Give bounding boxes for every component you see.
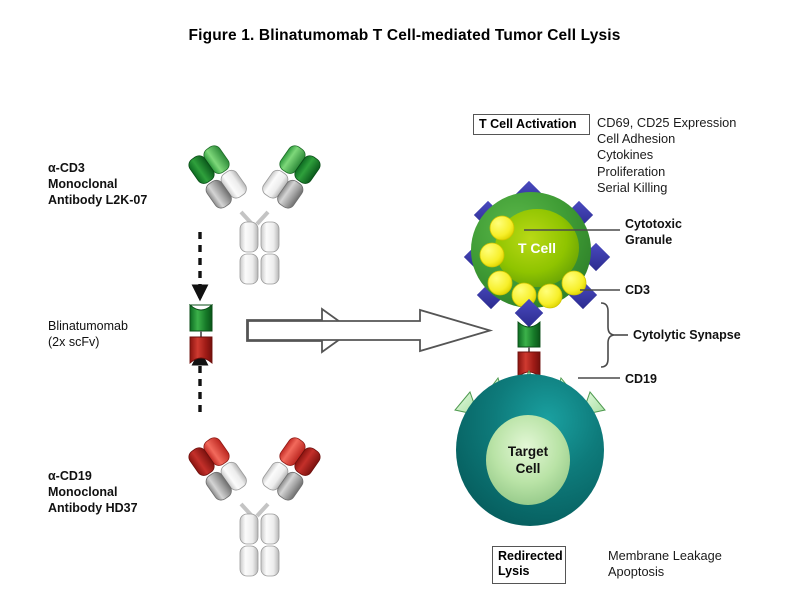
t-cell-figure: T Cell (464, 181, 610, 327)
target-cell-label-line-1: Target (508, 444, 549, 459)
anti-cd3-antibody-figure (186, 143, 323, 284)
anti-cd19-antibody-figure (186, 435, 323, 576)
cytolytic-synapse-brace (601, 303, 615, 367)
target-cell-nucleus (486, 415, 570, 505)
target-cell-figure: Target Cell (455, 371, 605, 526)
blinatumomab-molecule (190, 305, 212, 363)
diagram-graphics: T Cell Target Cell (0, 0, 809, 610)
target-cell-label-line-2: Cell (516, 461, 541, 476)
t-cell-label: T Cell (518, 240, 556, 256)
cytolytic-synapse-figure (515, 299, 543, 377)
figure-canvas: Figure 1. Blinatumomab T Cell-mediated T… (0, 0, 809, 610)
transform-arrow-body (248, 310, 490, 351)
